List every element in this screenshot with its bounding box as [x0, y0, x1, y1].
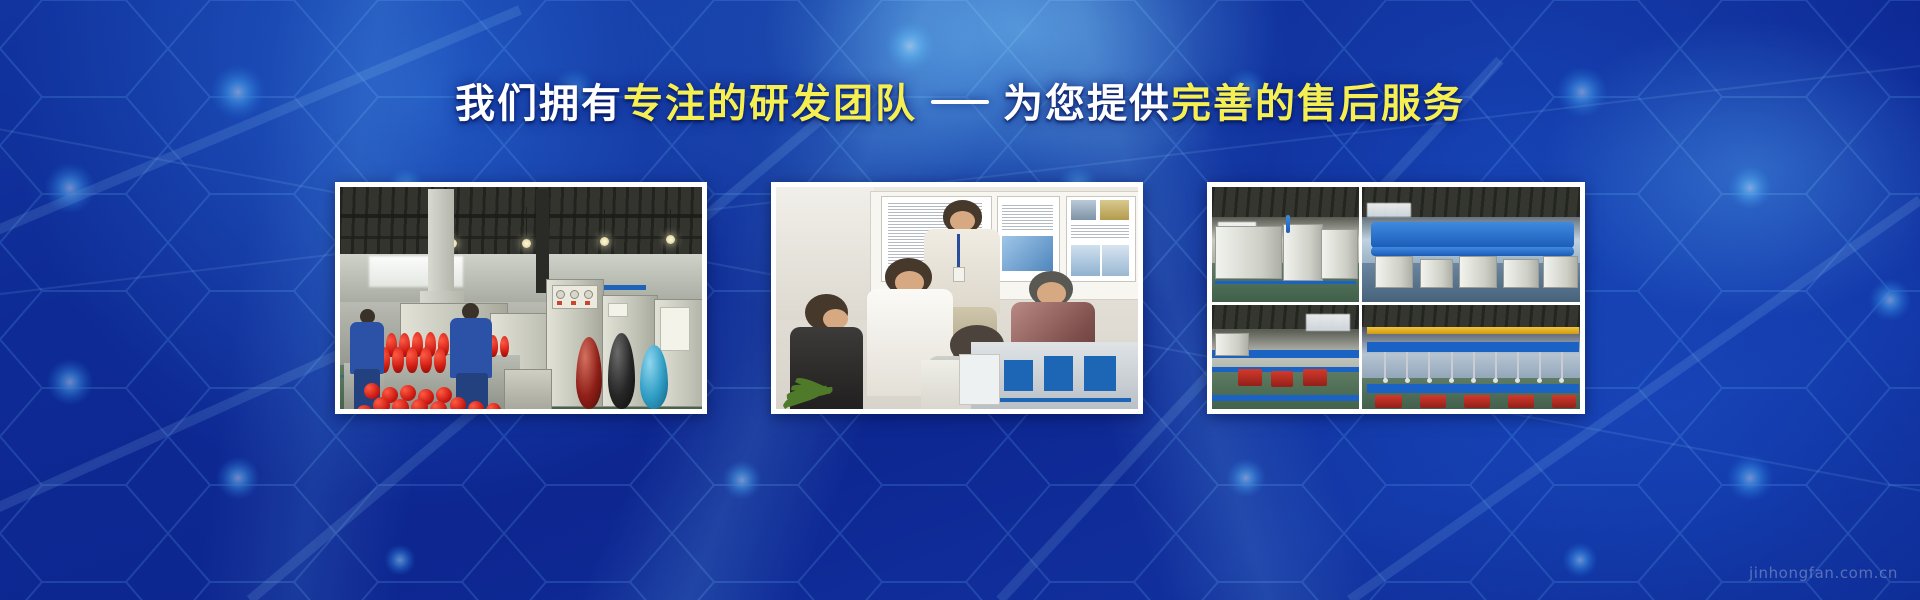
headline-part-3: 的售后服务 — [1255, 82, 1465, 126]
collage-cell-hanging-line — [1362, 305, 1580, 409]
headline-separator-dash — [931, 100, 989, 104]
collage-cell-duct-line — [1362, 187, 1580, 302]
site-watermark: jinhongfan.com.cn — [1749, 564, 1898, 582]
coating-workshop-photo[interactable] — [335, 182, 707, 414]
headline-part-2: 为您提供 — [1003, 82, 1171, 126]
photo-gallery — [0, 182, 1920, 414]
collage-cell-oven — [1212, 187, 1359, 302]
rd-team-meeting-image — [776, 187, 1138, 409]
promo-banner: 我们拥有专注的研发团队为您提供完善的售后服务 — [0, 0, 1920, 600]
headline-highlight-1: 专注的研发团队 — [623, 82, 917, 126]
coating-workshop-image — [340, 187, 702, 409]
production-line-collage-photo[interactable] — [1207, 182, 1585, 414]
production-line-collage-image — [1212, 187, 1580, 409]
rd-team-meeting-photo[interactable] — [771, 182, 1143, 414]
headline-part-1: 我们拥有 — [455, 82, 623, 126]
headline-highlight-2: 完善 — [1171, 82, 1255, 126]
collage-cell-conveyor — [1212, 305, 1359, 409]
banner-headline: 我们拥有专注的研发团队为您提供完善的售后服务 — [0, 80, 1920, 128]
